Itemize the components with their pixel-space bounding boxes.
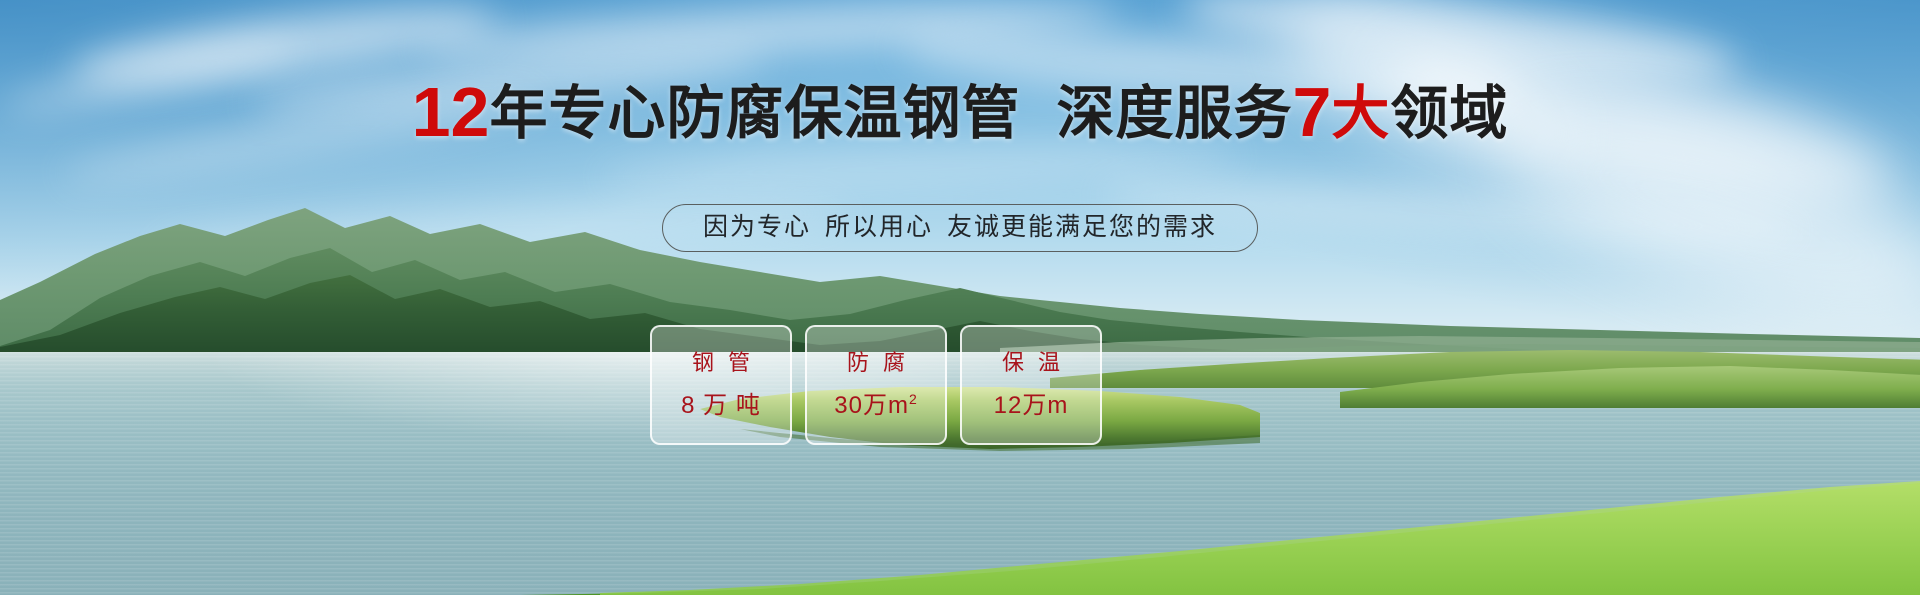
stat-card-value-sup: 2 <box>909 391 918 407</box>
foreground-grass <box>0 465 1920 595</box>
headline-part3: 领域 <box>1390 81 1508 146</box>
subtitle-seg-3: 友诚更能满足您的需求 <box>947 213 1217 241</box>
hero-banner: 12年专心防腐保温钢管深度服务7大领域 因为专心所以用心友诚更能满足您的需求 钢… <box>0 0 1920 595</box>
headline-part1: 年专心防腐保温钢管 <box>489 81 1020 146</box>
subtitle-seg-2: 所以用心 <box>825 213 933 241</box>
stat-card-value: 12万m <box>994 393 1069 419</box>
stat-card-label: 钢 管 <box>688 351 754 375</box>
stat-card-value: 30万m2 <box>834 393 917 419</box>
headline-years-number: 12 <box>412 73 490 151</box>
headline: 12年专心防腐保温钢管深度服务7大领域 <box>0 82 1920 144</box>
headline-fields-number: 7 <box>1292 73 1331 151</box>
subtitle-seg-1: 因为专心 <box>703 213 811 241</box>
stat-card-anticorrosion[interactable]: 防 腐 30万m2 <box>805 325 947 445</box>
stat-card-label: 防 腐 <box>843 351 909 375</box>
headline-part3-prefix: 大 <box>1331 81 1390 146</box>
subtitle-pill: 因为专心所以用心友诚更能满足您的需求 <box>662 204 1258 252</box>
stat-card-insulation[interactable]: 保 温 12万m <box>960 325 1102 445</box>
stat-card-label: 保 温 <box>998 351 1064 375</box>
stat-card-steel-pipe[interactable]: 钢 管 8 万 吨 <box>650 325 792 445</box>
stat-card-value: 8 万 吨 <box>681 393 761 419</box>
subtitle-pill-wrapper: 因为专心所以用心友诚更能满足您的需求 <box>0 204 1920 252</box>
mid-grass-bank <box>1340 348 1920 408</box>
headline-part2: 深度服务 <box>1056 81 1292 146</box>
stat-card-row: 钢 管 8 万 吨 防 腐 30万m2 保 温 12万m <box>650 325 1102 445</box>
